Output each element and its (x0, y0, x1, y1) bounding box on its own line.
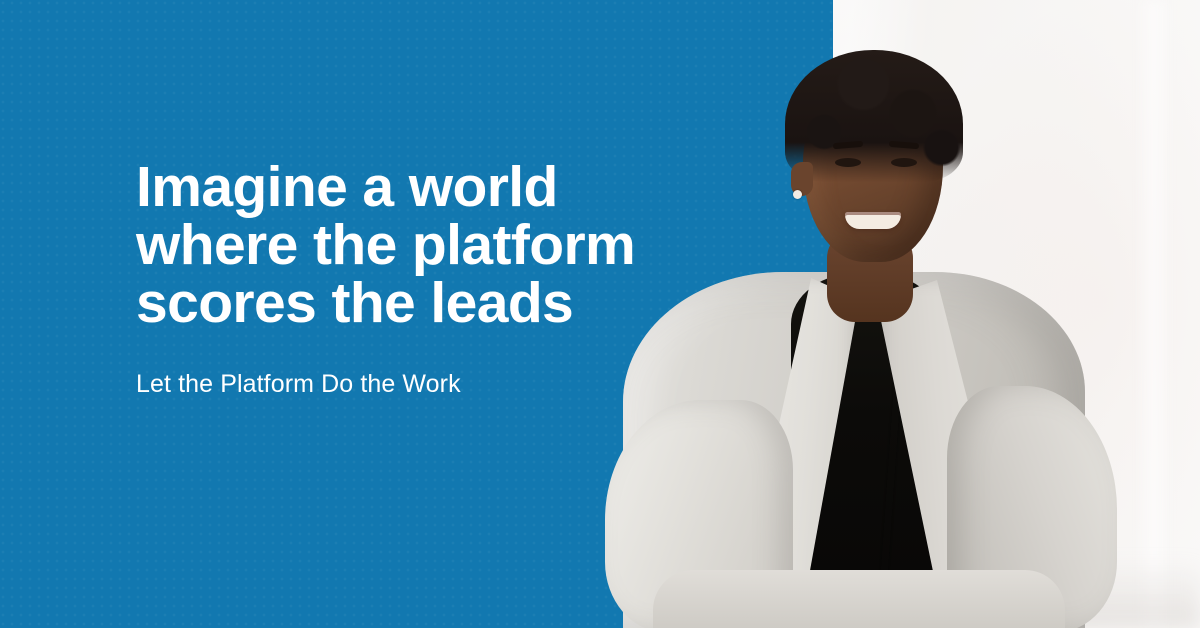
window-mullion (1138, 0, 1172, 628)
marketing-banner: Imagine a world where the platform score… (0, 0, 1200, 628)
headline-line-2: where the platform (136, 216, 756, 274)
subhead: Let the Platform Do the Work (136, 332, 756, 400)
hair (785, 50, 963, 182)
headline-line-1: Imagine a world (136, 158, 756, 216)
headline: Imagine a world where the platform score… (136, 158, 756, 332)
eye-left (835, 158, 861, 167)
headline-line-3: scores the leads (136, 274, 756, 332)
pearl-earring (793, 190, 802, 199)
crossed-forearms (653, 570, 1065, 628)
text-block: Imagine a world where the platform score… (136, 158, 756, 400)
eye-right (891, 158, 917, 167)
smile (845, 212, 901, 229)
